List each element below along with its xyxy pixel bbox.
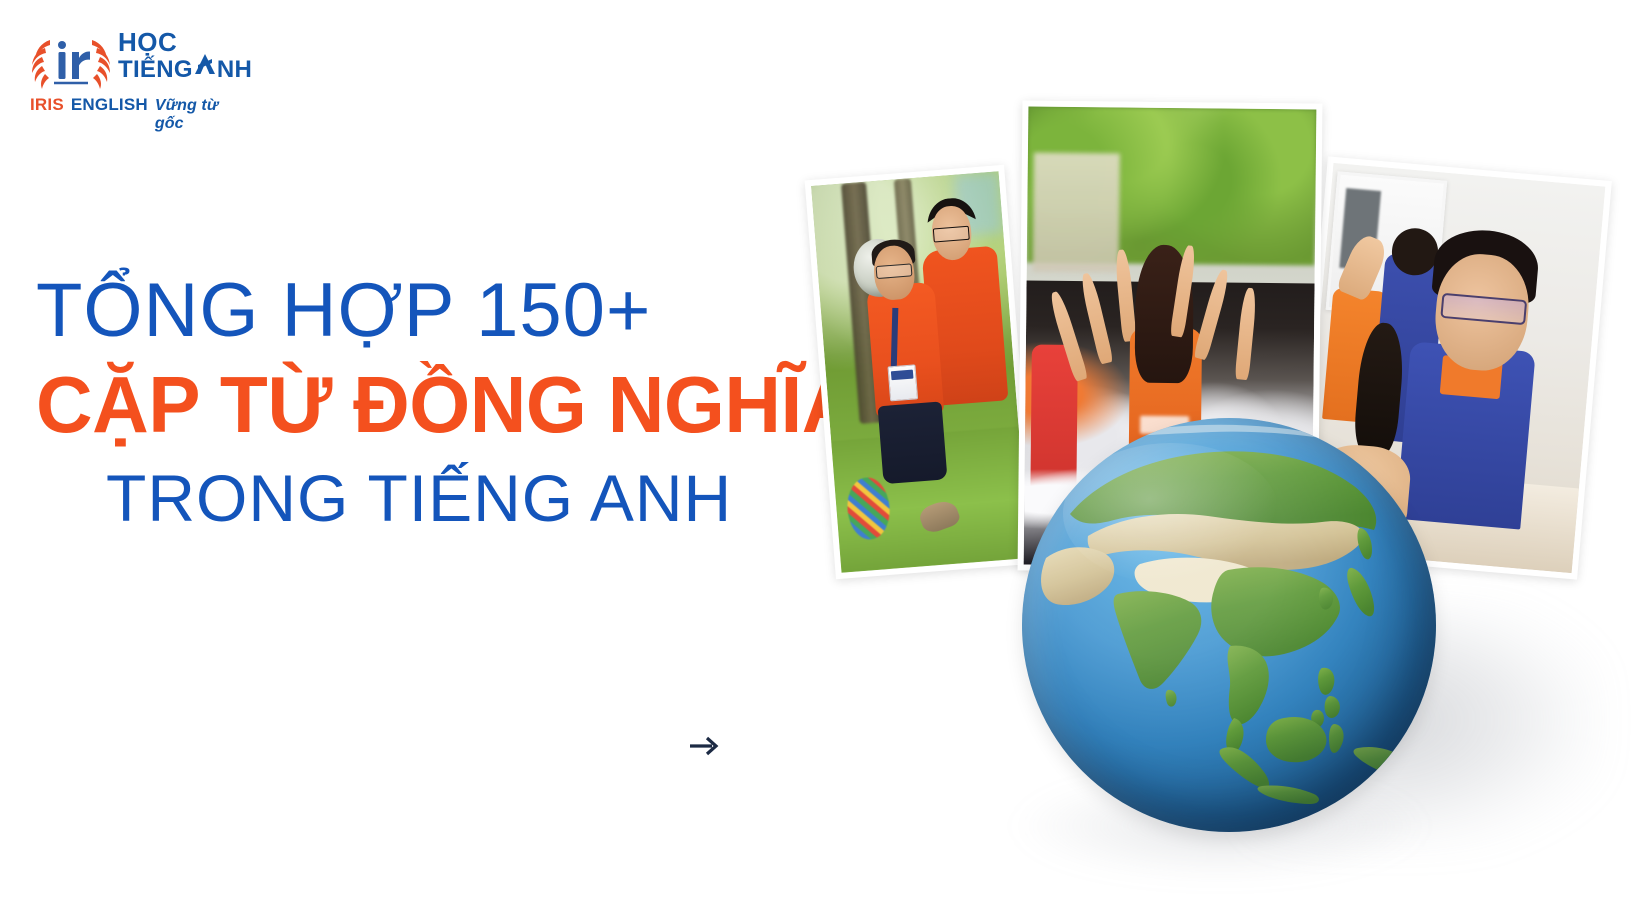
logo-word-hoc: HỌC: [118, 30, 252, 55]
earth-globe-sphere: [1022, 418, 1436, 832]
earth-continents-asia: [1022, 418, 1436, 832]
earth-globe: [1022, 418, 1436, 832]
logo-name-iris: IRIS: [30, 95, 64, 115]
headline-line-2: CẶP TỪ ĐỒNG NGHĨA: [36, 359, 859, 450]
iris-a-mark-icon: [194, 55, 216, 77]
headline-line-1: TỔNG HỢP 150+: [36, 268, 876, 353]
poster-canvas: HỌC TIẾNG NH IRIS ENGLISH Vững từ gốc: [0, 0, 1640, 924]
laurel-wreath-ir-monogram-icon: [28, 28, 114, 92]
logo-word-tieng: TIẾNG: [118, 58, 193, 81]
logo-word-tieng-anh: TIẾNG NH: [118, 55, 252, 81]
arrow-right-icon[interactable]: [688, 733, 722, 759]
logo-word-anh: NH: [217, 58, 252, 81]
logo-top-row: HỌC TIẾNG NH: [28, 28, 238, 92]
logo-wordmark: HỌC TIẾNG NH: [118, 28, 252, 81]
logo-tagline: Vững từ gốc: [155, 97, 238, 133]
brand-logo[interactable]: HỌC TIẾNG NH IRIS ENGLISH Vững từ gốc: [28, 28, 238, 120]
headline-block: TỔNG HỢP 150+ CẶP TỪ ĐỒNG NGHĨA TRONG TI…: [36, 268, 876, 537]
photo-students-outdoor-ball-image: [811, 171, 1029, 573]
logo-bottom-row: IRIS ENGLISH Vững từ gốc: [30, 95, 238, 133]
headline-line-3: TRONG TIẾNG ANH: [106, 460, 876, 537]
logo-name-english: ENGLISH: [71, 95, 148, 115]
photo-students-outdoor-ball: [805, 165, 1036, 579]
